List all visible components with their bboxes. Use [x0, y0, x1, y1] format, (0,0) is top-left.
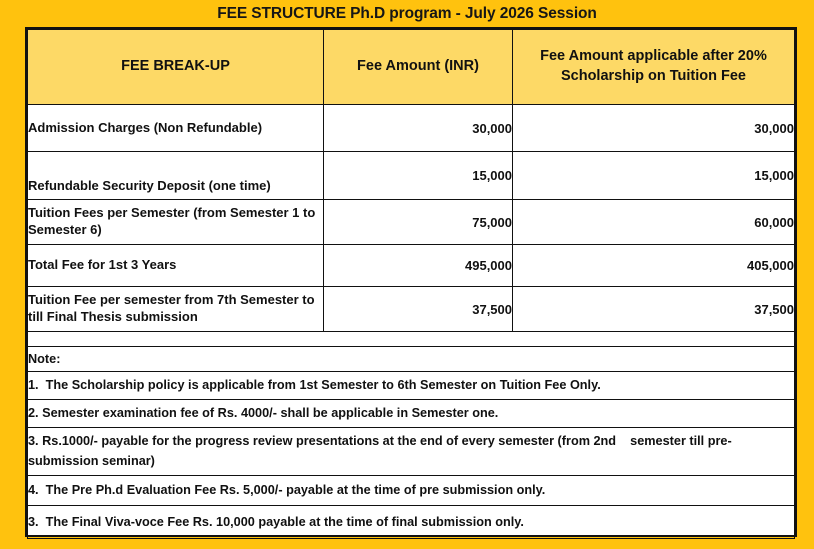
row-label-total-fee-3-years: Total Fee for 1st 3 Years [28, 245, 324, 287]
fee-structure-table: FEE BREAK-UP Fee Amount (INR) Fee Amount… [27, 29, 795, 539]
row-amount-total-fee-3-years: 495,000 [324, 245, 513, 287]
note-item-1: 1. The Scholarship policy is applicable … [28, 372, 795, 400]
note-item-5: 3. The Final Viva-voce Fee Rs. 10,000 pa… [28, 506, 795, 539]
column-header-fee-amount: Fee Amount (INR) [324, 30, 513, 105]
table-row: Refundable Security Deposit (one time) 1… [28, 152, 795, 200]
page-title: FEE STRUCTURE Ph.D program - July 2026 S… [217, 5, 597, 23]
fee-structure-table-container: FEE BREAK-UP Fee Amount (INR) Fee Amount… [25, 27, 797, 537]
row-amount-after-scholarship-security-deposit: 15,000 [513, 152, 795, 200]
table-row: Tuition Fees per Semester (from Semester… [28, 200, 795, 245]
note-row: 3. The Final Viva-voce Fee Rs. 10,000 pa… [28, 506, 795, 539]
row-amount-tuition-fee-sem-7-onwards: 37,500 [324, 287, 513, 332]
row-amount-admission-charges: 30,000 [324, 105, 513, 152]
note-row: 3. Rs.1000/- payable for the progress re… [28, 428, 795, 476]
table-header-row: FEE BREAK-UP Fee Amount (INR) Fee Amount… [28, 30, 795, 105]
row-label-admission-charges: Admission Charges (Non Refundable) [28, 105, 324, 152]
table-spacer-row [28, 332, 795, 347]
row-amount-after-scholarship-tuition-fees-sem-1-6: 60,000 [513, 200, 795, 245]
row-amount-after-scholarship-admission-charges: 30,000 [513, 105, 795, 152]
note-row: 4. The Pre Ph.d Evaluation Fee Rs. 5,000… [28, 476, 795, 506]
column-header-fee-break-up: FEE BREAK-UP [28, 30, 324, 105]
page-title-bar: FEE STRUCTURE Ph.D program - July 2026 S… [0, 0, 814, 27]
table-row: Admission Charges (Non Refundable) 30,00… [28, 105, 795, 152]
note-row: 2. Semester examination fee of Rs. 4000/… [28, 400, 795, 428]
row-amount-after-scholarship-total-fee-3-years: 405,000 [513, 245, 795, 287]
row-label-tuition-fee-sem-7-onwards: Tuition Fee per semester from 7th Semest… [28, 287, 324, 332]
row-label-security-deposit: Refundable Security Deposit (one time) [28, 152, 324, 200]
row-label-tuition-fees-sem-1-6: Tuition Fees per Semester (from Semester… [28, 200, 324, 245]
table-row: Tuition Fee per semester from 7th Semest… [28, 287, 795, 332]
row-amount-security-deposit: 15,000 [324, 152, 513, 200]
fee-structure-page: FEE STRUCTURE Ph.D program - July 2026 S… [0, 0, 814, 549]
table-row: Total Fee for 1st 3 Years 495,000 405,00… [28, 245, 795, 287]
row-amount-after-scholarship-tuition-fee-sem-7-onwards: 37,500 [513, 287, 795, 332]
notes-heading: Note: [28, 347, 795, 372]
note-item-4: 4. The Pre Ph.d Evaluation Fee Rs. 5,000… [28, 476, 795, 506]
row-amount-tuition-fees-sem-1-6: 75,000 [324, 200, 513, 245]
note-row: 1. The Scholarship policy is applicable … [28, 372, 795, 400]
spacer-cell [28, 332, 795, 347]
notes-heading-row: Note: [28, 347, 795, 372]
column-header-fee-amount-after-scholarship: Fee Amount applicable after 20% Scholars… [513, 30, 795, 105]
note-item-3: 3. Rs.1000/- payable for the progress re… [28, 428, 795, 476]
note-item-2: 2. Semester examination fee of Rs. 4000/… [28, 400, 795, 428]
